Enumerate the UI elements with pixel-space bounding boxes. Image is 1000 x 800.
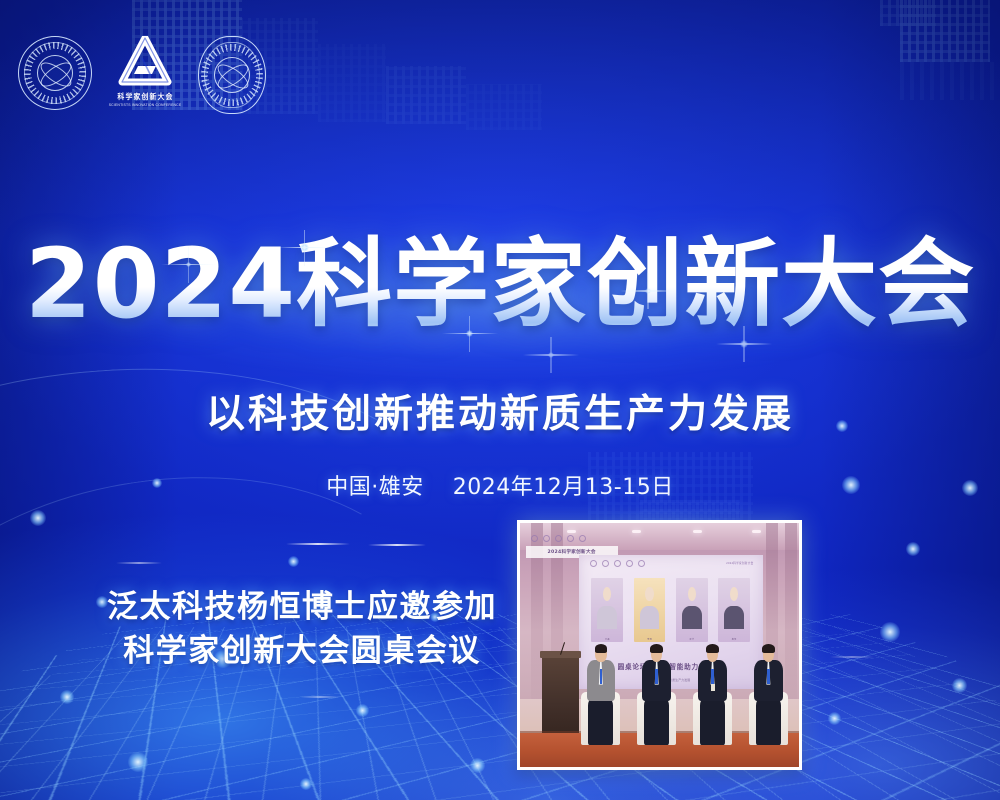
triangle-logo-en-text: SCIENTISTS INNOVATION CONFERENCE <box>109 103 182 107</box>
icon-circle <box>638 560 645 567</box>
portrait-head <box>730 587 738 601</box>
oval-seal-icon <box>198 36 266 114</box>
caption-line-1: 泛太科技杨恒博士应邀参加 <box>92 585 512 629</box>
cast-seal-logo <box>18 36 92 110</box>
portrait-name: 李 明 <box>634 638 666 641</box>
speaker-portrait: 王 磊 <box>591 578 623 642</box>
icon-triangle <box>626 560 633 567</box>
panelist-badge <box>600 669 603 683</box>
icon-circle <box>531 535 538 542</box>
panelist-hair <box>706 644 718 653</box>
portrait-body <box>640 606 660 629</box>
triangle-mark-icon <box>118 36 172 88</box>
panelist <box>690 643 735 745</box>
ceiling-light <box>693 530 702 533</box>
icon-circle <box>579 535 586 542</box>
ceiling-light <box>752 530 761 533</box>
panelist-legs <box>644 699 669 745</box>
portrait-head <box>645 587 653 601</box>
icon-circle <box>555 535 562 542</box>
page-title: 2024科学家创新大会 <box>0 233 1000 337</box>
page-subtitle: 以科技创新推动新质生产力发展 <box>0 383 1000 439</box>
photo-content: 2024科学家创新大会 2024科学家创新大会 <box>520 523 799 767</box>
speaker-portrait-row: 王 磊 李 明 张 华 杨 恒 <box>591 578 749 642</box>
panelist-legs <box>756 699 781 745</box>
panelist-badge <box>711 669 714 683</box>
speaker-portrait: 张 华 <box>676 578 708 642</box>
portrait-head <box>688 587 696 601</box>
portrait-head <box>603 587 611 601</box>
icon-circle <box>602 560 609 567</box>
logo-row: 科学家创新大会 SCIENTISTS INNOVATION CONFERENCE <box>18 36 266 114</box>
portrait-name: 王 磊 <box>591 638 623 641</box>
circular-seal-icon <box>18 36 92 110</box>
podium <box>542 655 578 738</box>
event-date-range: 2024年12月13-15日 <box>453 475 674 500</box>
panelist-hair <box>762 644 774 653</box>
panelist <box>746 643 791 745</box>
conference-poster: 科学家创新大会 SCIENTISTS INNOVATION CONFERENCE… <box>0 0 1000 800</box>
icon-circle <box>590 560 597 567</box>
portrait-name: 张 华 <box>676 638 708 641</box>
event-caption: 泛太科技杨恒博士应邀参加 科学家创新大会圆桌会议 <box>92 585 512 673</box>
triangle-logo-cn-text: 科学家创新大会 <box>117 91 173 102</box>
portrait-body <box>724 606 744 629</box>
panelist-badge <box>655 669 658 683</box>
portrait-body <box>682 606 702 629</box>
panelist-badge <box>767 669 770 683</box>
panelist-legs <box>588 699 613 745</box>
panelist-hair <box>595 644 607 653</box>
banner-icon-row <box>531 535 586 542</box>
speaker-portrait: 杨 恒 <box>718 578 750 642</box>
icon-circle <box>543 535 550 542</box>
icon-triangle <box>567 535 574 542</box>
ceiling-light <box>567 530 576 533</box>
panelist-hair <box>650 644 662 653</box>
institute-oval-logo <box>198 36 266 114</box>
ceiling-light <box>632 530 641 533</box>
triangle-conference-logo: 科学家创新大会 SCIENTISTS INNOVATION CONFERENCE <box>110 36 180 107</box>
panelist-row <box>579 643 791 745</box>
event-location: 中国·雄安 <box>326 475 424 500</box>
speaker-portrait: 李 明 <box>634 578 666 642</box>
portrait-body <box>597 606 617 629</box>
panelist-legs <box>700 699 725 745</box>
screen-header-right: 2024科学家创新大会 <box>726 561 753 565</box>
panelist <box>634 643 679 745</box>
event-meta-line: 中国·雄安 2024年12月13-15日 <box>0 469 1000 501</box>
screen-icon-row <box>590 560 645 567</box>
portrait-name: 杨 恒 <box>718 638 750 641</box>
icon-circle <box>614 560 621 567</box>
roundtable-photo: 2024科学家创新大会 2024科学家创新大会 <box>517 520 802 770</box>
panelist-microphone <box>711 684 715 691</box>
panelist <box>579 643 624 745</box>
caption-line-2: 科学家创新大会圆桌会议 <box>92 629 512 673</box>
